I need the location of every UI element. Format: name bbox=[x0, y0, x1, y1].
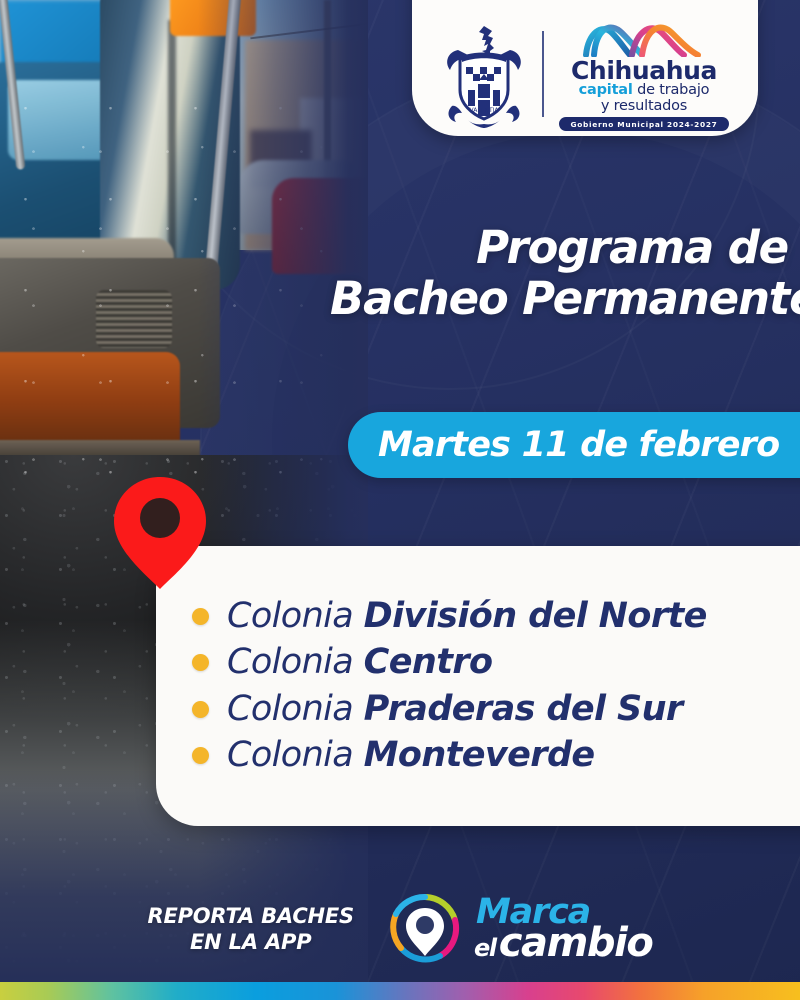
date-label: Martes 11 de febrero bbox=[378, 425, 779, 465]
title-line-2: Bacheo Permanente bbox=[330, 273, 788, 324]
colonia-name: División del Norte bbox=[364, 596, 707, 636]
map-pin-icon bbox=[104, 473, 216, 591]
bullet-icon bbox=[192, 654, 209, 671]
colonias-card: Colonia División del Norte Colonia Centr… bbox=[156, 546, 800, 826]
marca-cambio: cambio bbox=[499, 927, 653, 960]
colonia-row: Colonia División del Norte bbox=[227, 596, 707, 637]
header-logo-card: VALENTIA bbox=[412, 0, 758, 136]
chihuahua-arcs-icon bbox=[580, 17, 708, 57]
marca-pin-ring-icon bbox=[388, 892, 462, 966]
marca-el: el bbox=[474, 939, 496, 959]
colonia-prefix: Colonia bbox=[227, 735, 364, 775]
marca-wordmark: Marca elcambio bbox=[474, 898, 653, 959]
report-line-1: REPORTA BACHES bbox=[147, 904, 354, 928]
tagline-accent: capital bbox=[579, 82, 633, 98]
brand-name: Chihuahua bbox=[571, 58, 717, 83]
colonia-name: Monteverde bbox=[364, 735, 595, 775]
colonia-row: Colonia Centro bbox=[227, 642, 492, 683]
list-item: Colonia Centro bbox=[192, 642, 800, 683]
logo-divider bbox=[542, 31, 544, 117]
chihuahua-coat-of-arms-icon: VALENTIA bbox=[438, 20, 530, 128]
svg-text:VALENTIA: VALENTIA bbox=[470, 107, 500, 114]
list-item: Colonia Monteverde bbox=[192, 735, 800, 776]
bullet-icon bbox=[192, 747, 209, 764]
tagline-line2: y resultados bbox=[601, 98, 687, 114]
rainbow-strip bbox=[0, 982, 800, 1000]
colonia-row: Colonia Monteverde bbox=[227, 735, 595, 776]
colonia-prefix: Colonia bbox=[227, 689, 364, 729]
report-callout: REPORTA BACHES EN LA APP bbox=[147, 903, 354, 956]
tagline-rest: de trabajo bbox=[633, 82, 710, 98]
colonia-name: Centro bbox=[364, 642, 493, 682]
colonia-prefix: Colonia bbox=[227, 642, 364, 682]
date-banner: Martes 11 de febrero bbox=[348, 412, 800, 478]
bullet-icon bbox=[192, 701, 209, 718]
list-item: Colonia División del Norte bbox=[192, 596, 800, 637]
chihuahua-brand-logo: Chihuahua capital de trabajo y resultado… bbox=[556, 17, 732, 131]
colonia-name: Praderas del Sur bbox=[364, 689, 683, 729]
header-logo-row: VALENTIA bbox=[438, 18, 732, 130]
marca-bottom-word: elcambio bbox=[474, 927, 653, 960]
poster-canvas: VALENTIA bbox=[0, 0, 800, 1000]
list-item: Colonia Praderas del Sur bbox=[192, 689, 800, 730]
colonia-row: Colonia Praderas del Sur bbox=[227, 689, 683, 730]
bullet-icon bbox=[192, 608, 209, 625]
page-title: Programa de Bacheo Permanente bbox=[330, 222, 800, 325]
gov-banner: Gobierno Municipal 2024-2027 bbox=[559, 117, 728, 131]
report-line-2: EN LA APP bbox=[190, 930, 311, 954]
marca-el-cambio-logo: Marca elcambio bbox=[388, 892, 653, 966]
footer: REPORTA BACHES EN LA APP Marca elcambio bbox=[0, 892, 800, 966]
title-line-1: Programa de bbox=[476, 221, 788, 274]
brand-tagline: capital de trabajo y resultados bbox=[579, 83, 710, 114]
colonia-prefix: Colonia bbox=[227, 596, 364, 636]
